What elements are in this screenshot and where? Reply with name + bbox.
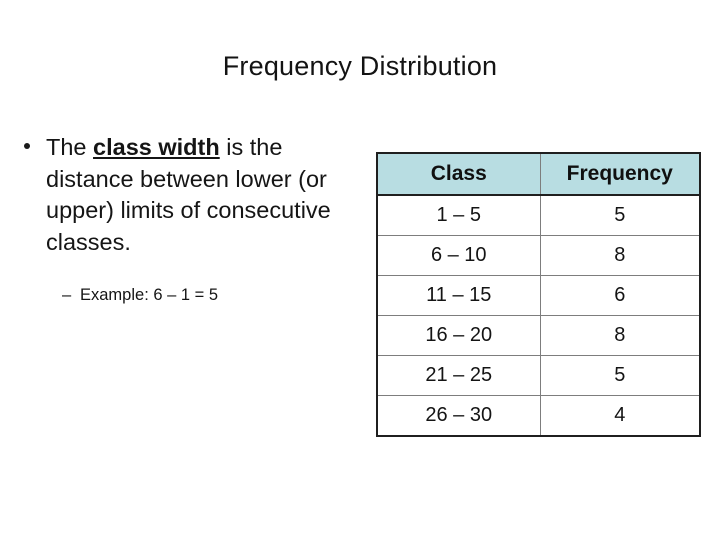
frequency-table: Class Frequency 1 – 5 5 6 – 10 8 11 – 15…	[376, 152, 701, 437]
bullet-item-text: The class width is the distance between …	[46, 132, 368, 258]
bullet-dot-icon	[24, 143, 30, 149]
table-row: 11 – 15 6	[377, 276, 700, 316]
table-row: 6 – 10 8	[377, 236, 700, 276]
column-header-class: Class	[377, 153, 540, 195]
cell-frequency: 5	[540, 195, 700, 236]
page-title: Frequency Distribution	[0, 50, 720, 82]
cell-class: 1 – 5	[377, 195, 540, 236]
column-header-frequency: Frequency	[540, 153, 700, 195]
table-row: 21 – 25 5	[377, 356, 700, 396]
bullet-term-class-width: class width	[93, 134, 220, 160]
cell-class: 6 – 10	[377, 236, 540, 276]
cell-class: 26 – 30	[377, 396, 540, 437]
cell-frequency: 5	[540, 356, 700, 396]
bullet-item: The class width is the distance between …	[18, 132, 368, 258]
table-row: 26 – 30 4	[377, 396, 700, 437]
sub-bullet-text: Example: 6 – 1 = 5	[80, 286, 218, 304]
cell-frequency: 8	[540, 236, 700, 276]
cell-frequency: 4	[540, 396, 700, 437]
cell-frequency: 8	[540, 316, 700, 356]
cell-frequency: 6	[540, 276, 700, 316]
sub-bullet-item: – Example: 6 – 1 = 5	[18, 284, 368, 306]
cell-class: 16 – 20	[377, 316, 540, 356]
frequency-table-container: Class Frequency 1 – 5 5 6 – 10 8 11 – 15…	[376, 152, 699, 437]
bullet-text-before: The	[46, 134, 93, 160]
table-row: 1 – 5 5	[377, 195, 700, 236]
table-row: 16 – 20 8	[377, 316, 700, 356]
slide: Frequency Distribution The class width i…	[0, 0, 720, 539]
table-header-row: Class Frequency	[377, 153, 700, 195]
sub-bullet-dash-icon: –	[62, 284, 71, 306]
cell-class: 11 – 15	[377, 276, 540, 316]
body-column: The class width is the distance between …	[18, 132, 368, 306]
cell-class: 21 – 25	[377, 356, 540, 396]
